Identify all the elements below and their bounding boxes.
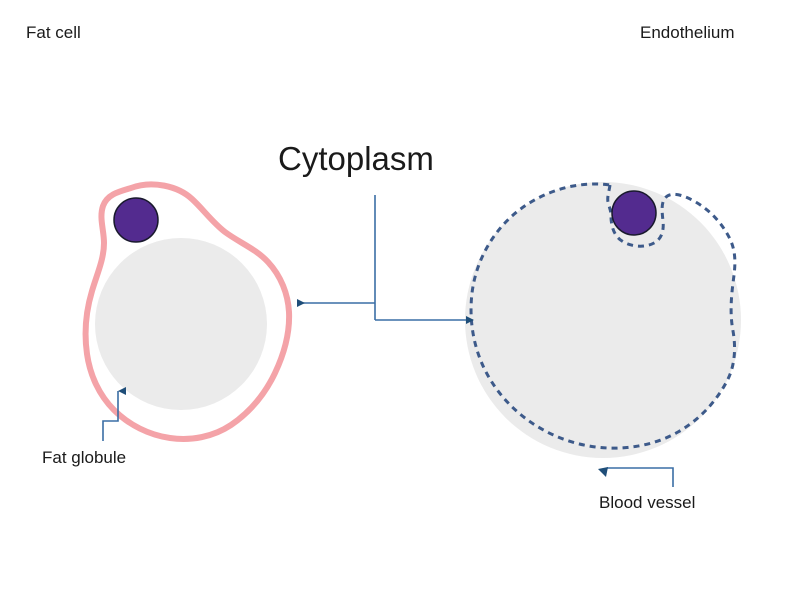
endothelium-nucleus: [612, 191, 656, 235]
fat-globule-droplet: [95, 238, 267, 410]
fat-cell-group: [86, 184, 289, 439]
diagram-canvas: Fat cell Endothelium Cytoplasm Fat globu…: [0, 0, 800, 600]
label-fat-globule: Fat globule: [42, 448, 126, 467]
cytoplasm-leader-group: [297, 195, 466, 320]
label-endothelium: Endothelium: [640, 23, 735, 42]
label-cytoplasm: Cytoplasm: [278, 140, 434, 177]
label-blood-vessel: Blood vessel: [599, 493, 695, 512]
label-fat-cell: Fat cell: [26, 23, 81, 42]
blood-vessel-leader-group: [607, 468, 673, 487]
endothelium-group: [465, 182, 741, 458]
cell-diagram-svg: Fat cell Endothelium Cytoplasm Fat globu…: [0, 0, 800, 600]
fat-cell-nucleus: [114, 198, 158, 242]
blood-vessel-leader-line: [607, 468, 673, 487]
